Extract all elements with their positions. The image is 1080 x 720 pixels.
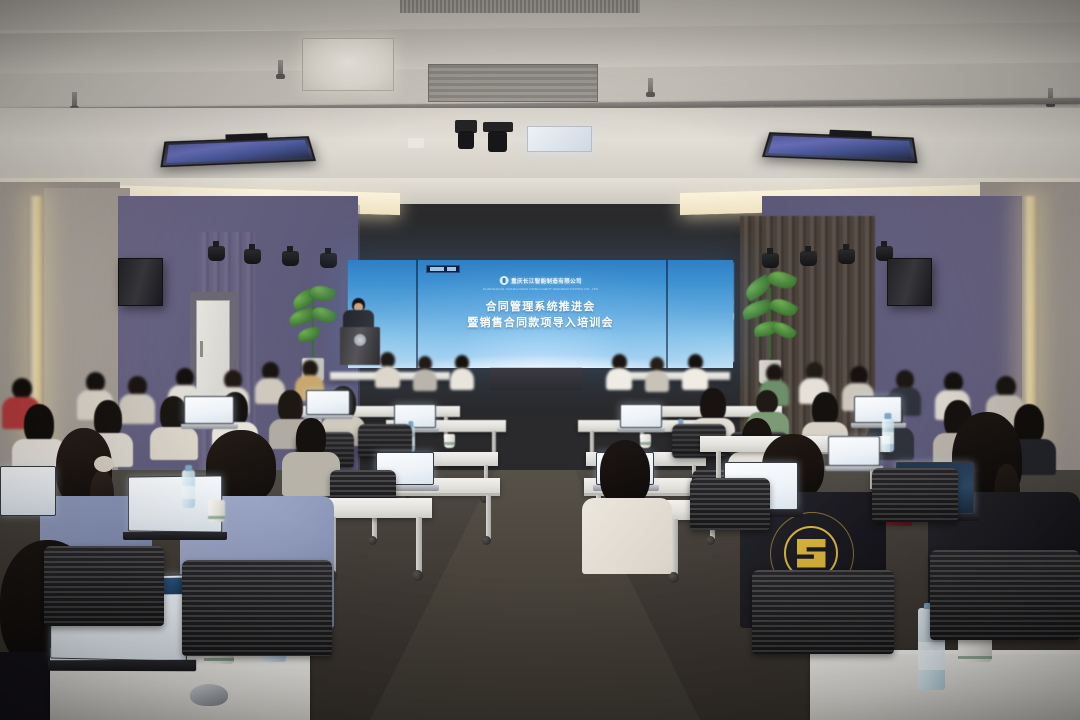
table-caster: [412, 570, 423, 581]
water-bottle[interactable]: [882, 418, 894, 452]
sprinkler-icon: [648, 78, 653, 94]
attendee-torso: [413, 369, 437, 391]
tv-screen-glow: [166, 140, 310, 163]
screen-title-line2: 暨销售合同款项导入培训会: [467, 314, 613, 330]
screen-org-name: 重庆长江智能制造有限公司: [511, 277, 582, 285]
attendee-hair: [812, 392, 838, 426]
bottle-cap: [185, 465, 193, 471]
ceiling-sensor-icon: [408, 138, 424, 148]
hair-scrunchie: [94, 456, 114, 472]
chair[interactable]: [930, 550, 1080, 640]
ceiling-light-panel: [527, 126, 592, 152]
plant-leaf: [297, 327, 321, 343]
paper-cup[interactable]: [208, 500, 225, 522]
bottle-cap: [884, 413, 891, 419]
track-light-icon: [208, 246, 225, 261]
laptop-screen-thumbnail: [161, 578, 184, 595]
bottle-label: [918, 642, 945, 670]
attendee-torso: [150, 427, 198, 460]
chair[interactable]: [752, 570, 894, 654]
table-leg: [486, 495, 491, 539]
laptop-screen: [306, 390, 350, 415]
attendee-torso: [682, 368, 708, 390]
bottle-label: [882, 432, 894, 444]
table-caster: [482, 536, 491, 545]
attendee-torso: [606, 368, 632, 390]
podium-emblem-icon: [354, 334, 366, 346]
track-light-icon: [800, 251, 817, 266]
attendee-torso: [119, 394, 155, 424]
laptop-screen: [828, 436, 880, 466]
tv-bracket: [829, 130, 872, 138]
table-caster: [368, 536, 377, 545]
attendee-torso: [582, 498, 672, 574]
attendee-torso: [645, 370, 669, 392]
main-led-screen: 重庆长江智能制造有限公司 CHONGQING CHANGJIANG INTELL…: [348, 260, 733, 368]
screen-panel-seam: [666, 260, 668, 368]
air-vent-icon: [400, 0, 640, 13]
attendee-torso: [450, 368, 474, 390]
laptop-keyboard[interactable]: [48, 660, 196, 671]
laptop-screen: [854, 396, 902, 423]
screen-panel-seam: [416, 260, 418, 368]
laptop-base: [851, 423, 906, 428]
plant-leaf: [310, 303, 338, 326]
attendee-head: [756, 390, 778, 414]
ceiling-camera-lens-icon: [458, 131, 474, 149]
sprinkler-icon: [278, 60, 283, 76]
track-light-icon: [762, 253, 779, 268]
track-light-icon: [282, 251, 299, 266]
attendee-head: [944, 372, 963, 392]
ceiling-light-panel: [302, 38, 394, 91]
bottle-label: [182, 486, 195, 499]
wall-speaker-left: [118, 258, 163, 306]
attendee-head: [128, 376, 147, 396]
wall-speaker-right: [887, 258, 932, 306]
water-bottle[interactable]: [182, 470, 195, 508]
laptop-screen: [0, 466, 56, 516]
screen-title-line1: 合同管理系统推进会: [486, 298, 596, 314]
computer-mouse[interactable]: [190, 684, 228, 706]
attendee-head: [86, 372, 105, 392]
table-row: [810, 650, 1080, 720]
laptop-base: [617, 428, 665, 432]
conference-room-photo: 重庆长江智能制造 合同管理系统推进会 暨销售合同款项导入培训会 重庆长江智能制造…: [0, 0, 1080, 720]
table-leg: [416, 517, 422, 573]
badge-bar-icon: [447, 267, 456, 271]
attendee-torso: [375, 366, 400, 388]
track-light-icon: [838, 249, 855, 264]
chair[interactable]: [44, 546, 164, 626]
stage-front-table: [490, 368, 582, 390]
screen-org-subtitle: CHONGQING CHANGJIANG INTELLIGENT MANUFAC…: [483, 287, 598, 291]
chair[interactable]: [872, 468, 958, 522]
table-leg: [672, 519, 678, 575]
logo-mark-icon: [499, 276, 508, 285]
screen-corner-badge: [426, 265, 460, 273]
sprinkler-icon: [72, 92, 77, 108]
door-handle-icon[interactable]: [200, 341, 203, 357]
laptop-keyboard[interactable]: [123, 532, 227, 540]
plant-leaf: [740, 298, 772, 320]
attendee-hair: [24, 404, 54, 444]
plant-leaf: [768, 295, 799, 321]
laptop-base: [181, 424, 238, 429]
plant-leaf: [770, 318, 797, 342]
paper-cup[interactable]: [640, 434, 651, 448]
ceiling-projector-lens-icon: [488, 131, 507, 152]
badge-bar-icon: [430, 267, 444, 271]
laptop-screen: [620, 404, 662, 428]
attendee-head: [996, 376, 1016, 397]
tv-screen-glow: [768, 136, 912, 159]
attendee-hair: [600, 440, 650, 506]
table-caster: [706, 536, 715, 545]
screen-org-logo: 重庆长江智能制造有限公司: [499, 276, 582, 285]
speaker-podium: [340, 327, 380, 365]
laptop-screen: [184, 396, 234, 424]
tv-bracket: [226, 133, 269, 141]
air-vent-icon: [428, 64, 598, 102]
chair[interactable]: [182, 560, 332, 656]
attendee-head: [12, 378, 32, 399]
track-light-icon: [320, 253, 337, 268]
chair[interactable]: [690, 478, 770, 530]
track-light-icon: [244, 249, 261, 264]
attendee-hair: [700, 388, 726, 422]
paper-cup[interactable]: [444, 434, 455, 448]
